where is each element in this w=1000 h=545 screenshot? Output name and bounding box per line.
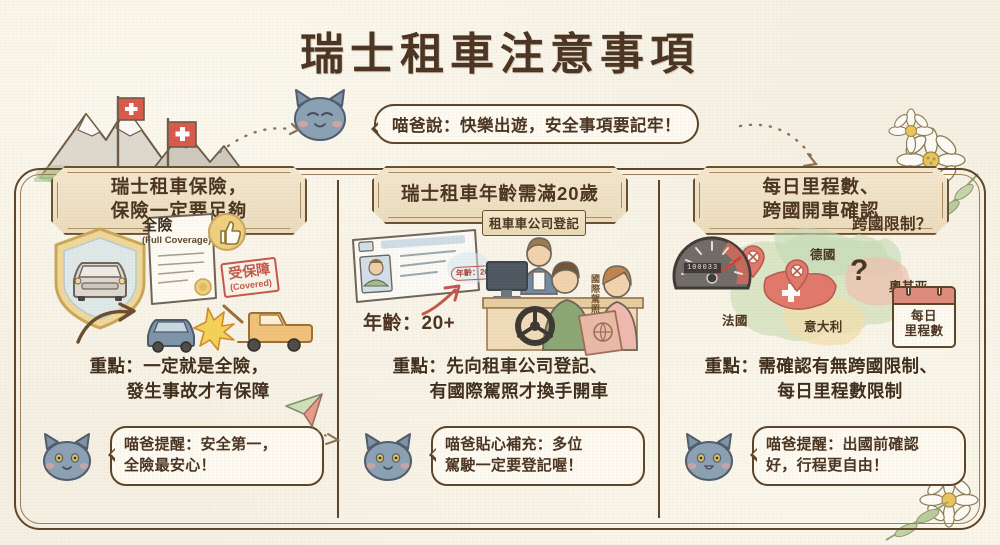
- page-title: 瑞士租車注意事項: [0, 18, 1000, 82]
- panel-age-cat-note: 喵爸貼心補充：多位 駕駛一定要登記喔！: [353, 426, 653, 488]
- panel-age-keypoint: 重點：先向租車公司登記、 有國際駕照才換手開車: [343, 354, 657, 404]
- cat-bubble-line1: 喵爸提醒：出國前確認: [766, 434, 956, 455]
- cross-border-limit-label: 跨國限制？: [852, 212, 932, 234]
- panel-age-header-line1: 瑞士租車年齡需滿20歲: [374, 182, 626, 206]
- odometer-reading: 100033: [683, 262, 722, 274]
- panel-insurance-keypoint-line1: 重點：一定就是全險，: [22, 354, 336, 379]
- map-label-germany: 德國: [810, 244, 836, 263]
- cat-bubble-line2: 好，行程更自由！: [766, 455, 956, 476]
- panel-age: 瑞士租車年齡需滿20歲 租車車公司登記 年齡：20+: [343, 176, 657, 522]
- panel-age-cat-bubble: 喵爸貼心補充：多位 駕駛一定要登記喔！: [431, 426, 645, 486]
- panel-age-keypoint-line1: 重點：先向租車公司登記、: [343, 354, 657, 379]
- full-coverage-label-zh: 全險: [142, 217, 173, 234]
- curved-arrow-icon: [74, 302, 144, 346]
- cat-bubble-line2: 駕駛一定要登記喔！: [445, 455, 635, 476]
- calendar-icon: 每日 里程數: [892, 286, 956, 348]
- full-coverage-label-en: (Full Coverage): [142, 235, 211, 246]
- no-entry-pin-icon: [784, 260, 810, 292]
- cat-head-icon: [288, 88, 352, 142]
- car-crash-tow-truck-icon: [142, 298, 322, 354]
- map-label-italy: 意大利: [804, 316, 843, 335]
- cat-head-icon: [680, 432, 738, 482]
- rental-counter-icon: [483, 232, 655, 350]
- panel-mileage: 每日里程數、 跨國開車確認: [664, 176, 978, 522]
- calendar-line2: 里程數: [894, 324, 954, 339]
- full-coverage-label: 全險 (Full Coverage): [142, 214, 211, 246]
- mascot-intro-bubble: 喵爸說：快樂出遊，安全事項要記牢！: [374, 104, 699, 144]
- cat-bubble-line2: 全險最安心！: [124, 455, 314, 476]
- calendar-header-bar: [894, 288, 954, 305]
- panel-insurance: 瑞士租車保險， 保險一定要足夠: [22, 176, 336, 522]
- cat-head-icon: [38, 432, 96, 482]
- covered-stamp: 受保障 (Covered): [220, 257, 280, 298]
- dotted-connector-right: [738, 116, 824, 170]
- panel-divider-1: [337, 180, 339, 518]
- map-label-france: 法國: [722, 310, 748, 329]
- international-driving-permit-label: 國際駕照: [589, 274, 602, 314]
- thumbs-up-icon: [207, 212, 247, 252]
- panel-age-keypoint-line2: 有國際駕照才換手開車: [343, 379, 657, 404]
- panel-mileage-header-line1: 每日里程數、: [695, 175, 947, 199]
- panel-mileage-illustration: 德國 奧其亚 法國 意大利 ? 跨國限制？: [664, 210, 978, 350]
- cat-head-icon: [359, 432, 417, 482]
- age-requirement-label: 年齡：20+: [363, 308, 455, 335]
- paper-plane-icon: [282, 392, 354, 450]
- panel-mileage-cat-note: 喵爸提醒：出國前確認 好，行程更自由！: [674, 426, 974, 488]
- swiss-flag-icon: [114, 96, 148, 168]
- infographic-canvas: 瑞士租車注意事項 喵爸說：快樂出遊，安全事項要記牢！ 瑞士租車保險， 保險一定要…: [0, 0, 1000, 545]
- panel-mileage-keypoint-line1: 重點：需確認有無跨國限制、: [664, 354, 978, 379]
- panel-mileage-keypoint-line2: 每日里程數限制: [664, 379, 978, 404]
- panel-mileage-keypoint: 重點：需確認有無跨國限制、 每日里程數限制: [664, 354, 978, 404]
- panel-mileage-cat-bubble: 喵爸提醒：出國前確認 好，行程更自由！: [752, 426, 966, 486]
- question-mark-icon: ?: [850, 254, 868, 288]
- panel-insurance-header-line1: 瑞士租車保險，: [53, 175, 305, 199]
- panel-divider-2: [658, 180, 660, 518]
- cat-bubble-line1: 喵爸貼心補充：多位: [445, 434, 635, 455]
- calendar-line1: 每日: [894, 309, 954, 324]
- edelweiss-flower-icon: [888, 108, 934, 154]
- panel-age-illustration: 租車車公司登記 年齡：20+: [343, 210, 657, 350]
- panel-insurance-illustration: 全險 (Full Coverage): [22, 210, 336, 350]
- speedometer-gauge-icon: [670, 222, 754, 298]
